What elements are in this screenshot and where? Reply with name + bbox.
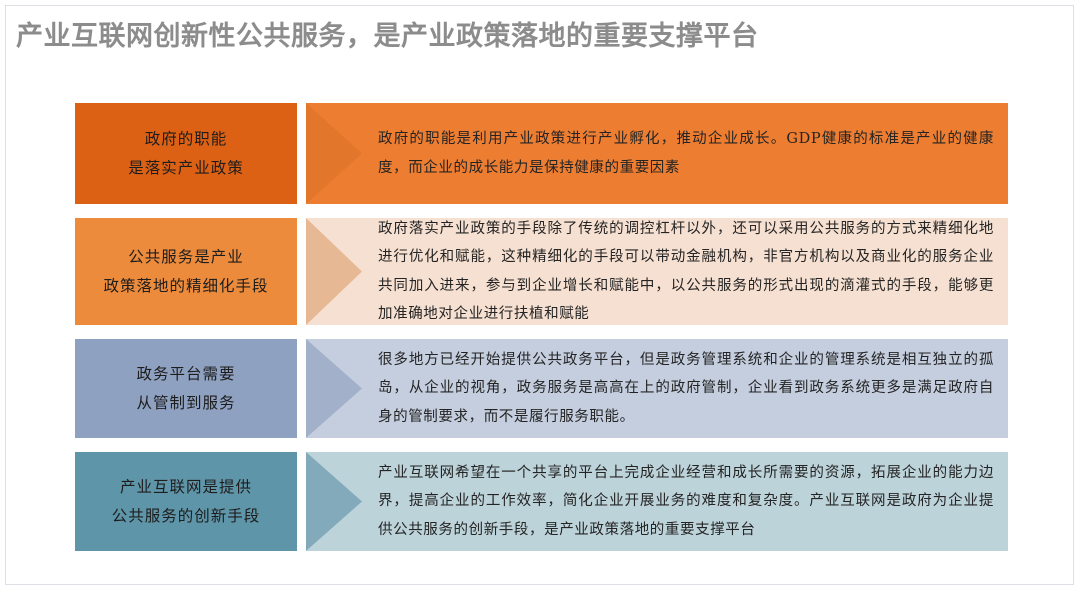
row-content-box[interactable]: 产业互联网希望在一个共享的平台上完成企业经营和成长所需要的资源，拓展企业的能力边… bbox=[306, 452, 1008, 551]
process-rows-container: 政府的职能 是落实产业政策 政府的职能是利用产业政策进行产业孵化，推动企业成长。… bbox=[75, 103, 1008, 551]
chevron-right-icon bbox=[306, 452, 362, 551]
row-gap bbox=[297, 218, 306, 325]
row-content-text: 产业互联网希望在一个共享的平台上完成企业经营和成长所需要的资源，拓展企业的能力边… bbox=[378, 459, 994, 544]
process-row: 公共服务是产业 政策落地的精细化手段 政府落实产业政策的手段除了传统的调控杠杆以… bbox=[75, 218, 1008, 325]
process-row: 产业互联网是提供 公共服务的创新手段 产业互联网希望在一个共享的平台上完成企业经… bbox=[75, 452, 1008, 551]
row-content-text: 政府的职能是利用产业政策进行产业孵化，推动企业成长。GDP健康的标准是产业的健康… bbox=[378, 125, 994, 182]
row-gap bbox=[297, 339, 306, 438]
slide-canvas: 产业互联网创新性公共服务，是产业政策落地的重要支撑平台 政府的职能 是落实产业政… bbox=[0, 0, 1080, 591]
row-gap bbox=[297, 452, 306, 551]
row-label-text: 政务平台需要 从管制到服务 bbox=[136, 360, 235, 417]
row-content-text: 政府落实产业政策的手段除了传统的调控杠杆以外，还可以采用公共服务的方式来精细化地… bbox=[378, 218, 994, 325]
chevron-right-icon bbox=[306, 218, 362, 325]
chevron-right-icon bbox=[306, 103, 362, 204]
page-title: 产业互联网创新性公共服务，是产业政策落地的重要支撑平台 bbox=[16, 14, 759, 53]
row-content-box[interactable]: 政府的职能是利用产业政策进行产业孵化，推动企业成长。GDP健康的标准是产业的健康… bbox=[306, 103, 1008, 204]
process-row: 政府的职能 是落实产业政策 政府的职能是利用产业政策进行产业孵化，推动企业成长。… bbox=[75, 103, 1008, 204]
row-label-box[interactable]: 产业互联网是提供 公共服务的创新手段 bbox=[75, 452, 297, 551]
row-gap bbox=[297, 103, 306, 204]
row-label-box[interactable]: 政府的职能 是落实产业政策 bbox=[75, 103, 297, 204]
row-label-text: 政府的职能 是落实产业政策 bbox=[128, 125, 244, 182]
row-label-box[interactable]: 政务平台需要 从管制到服务 bbox=[75, 339, 297, 438]
chevron-right-icon bbox=[306, 339, 362, 438]
row-content-box[interactable]: 很多地方已经开始提供公共政务平台，但是政务管理系统和企业的管理系统是相互独立的孤… bbox=[306, 339, 1008, 438]
row-content-box[interactable]: 政府落实产业政策的手段除了传统的调控杠杆以外，还可以采用公共服务的方式来精细化地… bbox=[306, 218, 1008, 325]
process-row: 政务平台需要 从管制到服务 很多地方已经开始提供公共政务平台，但是政务管理系统和… bbox=[75, 339, 1008, 438]
row-content-text: 很多地方已经开始提供公共政务平台，但是政务管理系统和企业的管理系统是相互独立的孤… bbox=[378, 346, 994, 431]
row-label-text: 产业互联网是提供 公共服务的创新手段 bbox=[112, 473, 261, 530]
row-label-text: 公共服务是产业 政策落地的精细化手段 bbox=[103, 243, 268, 300]
row-label-box[interactable]: 公共服务是产业 政策落地的精细化手段 bbox=[75, 218, 297, 325]
